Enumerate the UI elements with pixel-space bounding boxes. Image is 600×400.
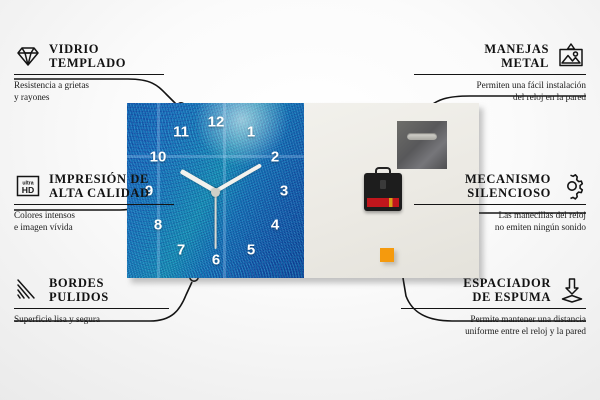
callout-title: BORDES PULIDOS [49,276,109,305]
svg-text:HD: HD [22,185,34,195]
callout-title: ESPACIADOR DE ESPUMA [463,276,551,305]
callout-header: VIDRIO TEMPLADO [14,42,164,71]
mechanism-hook [375,167,391,174]
ultra-hd-icon: ultra HD [14,173,42,199]
clock-hour-4: 4 [271,218,279,233]
metal-hanger-plate [397,121,447,169]
clock-hour-7: 7 [177,243,185,258]
clock-hour-1: 1 [247,125,255,140]
callout-title: MANEJAS METAL [484,42,549,71]
callout-title: VIDRIO TEMPLADO [49,42,126,71]
clock-second-hand [215,191,217,249]
callout-rule [14,74,164,75]
foam-spacer [380,248,394,262]
clock-hour-2: 2 [271,150,279,165]
clock-hour-12: 12 [208,115,225,130]
polished-edges-icon [14,276,42,304]
callout-rule [14,308,169,309]
callout-header: ESPACIADOR DE ESPUMA [401,276,586,305]
callout-title: MECANISMO SILENCIOSO [465,172,551,201]
callout-header: MECANISMO SILENCIOSO [414,172,586,201]
callout-rule [401,308,586,309]
clock-hour-5: 5 [247,243,255,258]
callout-rule [14,204,174,205]
gear-icon [558,172,586,200]
callout-header: MANEJAS METAL [414,42,586,71]
callout-bordes-pulidos: BORDES PULIDOS Superficie lisa y segura [14,276,169,325]
callout-impresion-alta-calidad: ultra HD IMPRESIÓN DE ALTA CALIDAD Color… [14,172,174,233]
mechanism-label [367,198,399,207]
callout-manejas-metal: MANEJAS METAL Permiten una fácil instala… [414,42,586,103]
callout-title: IMPRESIÓN DE ALTA CALIDAD [49,172,150,201]
picture-frame-icon [556,42,586,70]
callout-rule [414,74,586,75]
hanger-slot [407,133,437,140]
callout-header: BORDES PULIDOS [14,276,169,305]
callout-vidrio-templado: VIDRIO TEMPLADO Resistencia a grietas y … [14,42,164,103]
foam-spacer-icon [558,276,586,304]
callout-description: Resistencia a grietas y rayones [14,79,164,104]
callout-description: Permite mantener una distancia uniforme … [401,313,586,338]
quartz-mechanism [364,173,402,211]
callout-description: Las manecillas del reloj no emiten ningú… [414,209,586,234]
callout-mecanismo-silencioso: MECANISMO SILENCIOSO Las manecillas del … [414,172,586,233]
callout-description: Permiten una fácil instalación del reloj… [414,79,586,104]
clock-hour-3: 3 [280,184,288,199]
callout-header: ultra HD IMPRESIÓN DE ALTA CALIDAD [14,172,174,201]
clock-hour-6: 6 [212,253,220,268]
callout-description: Superficie lisa y segura [14,313,169,325]
callout-description: Colores intensos e imagen vívida [14,209,174,234]
callout-espaciador-espuma: ESPACIADOR DE ESPUMA Permite mantener un… [401,276,586,337]
clock-hour-10: 10 [150,150,167,165]
clock-center-cap [211,188,220,197]
callout-rule [414,204,586,205]
diamond-icon [14,42,42,70]
product-feature-infographic: 12 1 2 3 4 5 6 7 8 9 10 11 [0,0,600,400]
mechanism-shaft [380,180,386,189]
clock-hour-11: 11 [173,125,189,140]
